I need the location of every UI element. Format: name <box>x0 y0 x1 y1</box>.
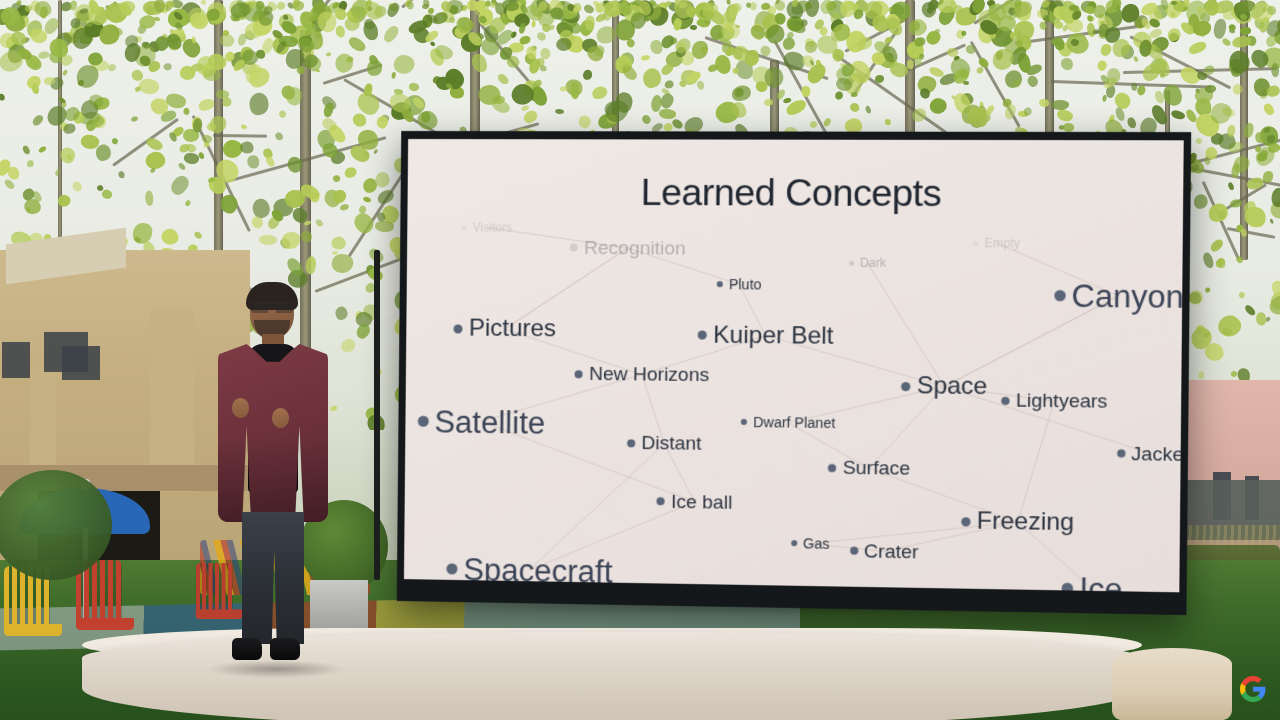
tree-leaf <box>934 28 940 33</box>
presenter-shoe-left <box>232 638 262 660</box>
tree-leaf <box>344 166 357 179</box>
tree-leaf <box>168 173 192 197</box>
tree-leaf <box>496 72 510 86</box>
concept-node-label: Gas <box>803 536 830 551</box>
concept-node-dot <box>454 324 463 333</box>
tree-leaf <box>247 154 260 168</box>
tree-leaf <box>131 115 139 122</box>
tree-leaf <box>690 24 698 30</box>
concept-node-label: Satellite <box>434 405 545 437</box>
concept-node-label: Freezing <box>977 509 1075 535</box>
tree-leaf <box>38 145 48 153</box>
tree-leaf <box>150 168 156 174</box>
tree-leaf <box>201 133 213 144</box>
tree-leaf <box>39 6 49 19</box>
presenter-hand-left <box>232 398 249 418</box>
concept-node-dot <box>627 439 635 447</box>
tree-leaf <box>1270 63 1279 77</box>
concept-node-dot <box>973 241 978 246</box>
tree-leaf <box>350 209 377 235</box>
tree-leaf <box>1160 73 1165 78</box>
concept-node-label: Ice ball <box>671 492 733 512</box>
concept-node-label: Canyon <box>1071 280 1183 313</box>
concept-node-dot <box>417 415 428 426</box>
concept-node-dot <box>961 517 970 526</box>
concept-node[interactable]: Visitors <box>462 221 512 233</box>
tree-leaf <box>331 173 341 183</box>
tree-leaf <box>119 171 125 179</box>
tree-leaf <box>490 96 513 117</box>
tree-leaf <box>143 148 167 172</box>
concept-node-label: Dwarf Planet <box>753 415 835 430</box>
concept-node-label: Dark <box>860 257 886 269</box>
tree-leaf <box>1255 132 1265 143</box>
tree-leaf <box>197 97 215 112</box>
tree-branch <box>213 134 267 138</box>
tree-leaf <box>247 92 270 117</box>
concept-node[interactable]: Surface <box>828 458 910 478</box>
presenter <box>196 286 346 676</box>
tree-leaf <box>1266 85 1280 97</box>
tree-leaf <box>255 49 265 60</box>
tree-leaf <box>0 93 6 101</box>
tree-leaf <box>314 218 324 229</box>
concept-node[interactable]: Pictures <box>454 317 557 342</box>
tree-leaf <box>1228 182 1235 191</box>
concept-node-label: Distant <box>641 434 701 454</box>
concept-node[interactable]: Satellite <box>417 405 545 438</box>
tree-leaf <box>163 62 173 72</box>
concept-node-dot <box>717 281 723 287</box>
concept-node-dot <box>828 464 836 472</box>
tree-leaf <box>1238 291 1246 299</box>
tree-leaf <box>1245 207 1266 228</box>
tree-leaf <box>429 41 436 48</box>
tree-leaf <box>884 36 893 44</box>
tree-leaf <box>222 97 232 106</box>
tree-leaf <box>1269 218 1274 224</box>
slide-surface: Learned Concepts VisitorsRecognitionEmpt… <box>404 139 1184 592</box>
concept-node[interactable]: New Horizons <box>575 364 709 384</box>
tree-leaf <box>241 124 248 130</box>
light-pole <box>374 250 380 580</box>
tree-leaf <box>927 95 950 118</box>
tree-leaf <box>27 160 34 167</box>
tree-leaf <box>183 108 190 115</box>
tree-leaf <box>1263 102 1276 117</box>
tree-leaf <box>849 102 860 113</box>
slide-title: Learned Concepts <box>407 171 1183 216</box>
tree-leaf <box>800 86 810 98</box>
concept-node[interactable]: Canyon <box>1054 280 1184 313</box>
tree-leaf <box>144 135 163 152</box>
tree-leaf <box>1225 48 1253 77</box>
concept-node[interactable]: Pluto <box>717 277 762 291</box>
tree-leaf <box>884 119 891 126</box>
tree-leaf <box>1276 152 1280 179</box>
concept-node-label: Space <box>917 374 988 399</box>
concept-node[interactable]: Empty <box>973 237 1020 249</box>
tree-leaf <box>332 190 346 204</box>
tree-leaf <box>329 234 347 251</box>
tree-leaf <box>391 71 397 79</box>
tree-leaf <box>1209 237 1225 253</box>
tree-leaf <box>696 80 704 90</box>
concept-node[interactable]: Lightyears <box>1001 391 1107 412</box>
concept-node-label: Kuiper Belt <box>713 323 834 348</box>
tree-leaf <box>781 37 795 51</box>
tree-leaf <box>1026 74 1040 88</box>
tree-leaf <box>1023 106 1033 116</box>
tree-leaf <box>576 114 592 130</box>
tree-leaf <box>1201 252 1214 270</box>
tree-leaf <box>201 0 208 6</box>
tree-leaf <box>1214 256 1227 269</box>
tree-leaf <box>851 92 858 97</box>
concept-node[interactable]: Crater <box>849 541 918 561</box>
google-g-logo <box>1240 676 1266 702</box>
tree-leaf <box>804 1 812 9</box>
tree-leaf <box>1205 85 1217 94</box>
tree-leaf <box>590 86 608 101</box>
concept-node[interactable]: Distant <box>627 434 702 454</box>
tree-leaf <box>519 35 532 45</box>
tree-leaf <box>185 142 197 154</box>
concept-node[interactable]: Kuiper Belt <box>698 323 834 348</box>
tree-leaf <box>864 105 871 114</box>
tree-leaf <box>817 35 838 54</box>
tree-leaf <box>569 82 579 100</box>
presenter-legs <box>242 512 304 644</box>
screenshot-root: Learned Concepts VisitorsRecognitionEmpt… <box>0 0 1280 720</box>
tree-leaf <box>1215 311 1245 341</box>
concept-node-label: Crater <box>864 542 919 562</box>
tree-leaf <box>281 231 300 249</box>
tree-leaf <box>731 85 752 102</box>
concept-node-label: Visitors <box>473 221 512 233</box>
concept-node-dot <box>850 547 858 555</box>
concept-node-dot <box>1117 450 1125 458</box>
concept-node-dot <box>570 244 578 252</box>
tree-leaf <box>385 0 402 18</box>
tree-leaf <box>1166 27 1182 42</box>
tree-leaf <box>1256 312 1266 325</box>
concept-node-dot <box>791 540 797 546</box>
tree-leaf <box>372 148 378 154</box>
concept-node-dot <box>741 419 747 425</box>
tree-leaf <box>43 77 55 85</box>
tree-branch <box>1227 227 1275 239</box>
tree-leaf <box>177 162 186 171</box>
concept-node[interactable]: Dwarf Planet <box>741 415 836 430</box>
tree-leaf <box>707 64 718 73</box>
tree-leaf <box>1244 304 1257 318</box>
tree-leaf <box>745 50 760 66</box>
tree-leaf <box>405 1 414 11</box>
concept-node[interactable]: Gas <box>791 536 830 551</box>
concept-node-dot <box>575 370 583 378</box>
tree-leaf <box>1050 99 1069 110</box>
presenter-shoe-right <box>270 638 300 660</box>
tree-leaf <box>274 131 284 142</box>
tree-leaf <box>665 80 674 88</box>
concept-node[interactable]: Freezing <box>961 509 1074 535</box>
tree-leaf <box>1043 15 1049 21</box>
tree-leaf <box>325 52 330 57</box>
concept-node[interactable]: Space <box>901 374 987 399</box>
concept-node[interactable]: Recognition <box>570 238 686 258</box>
concept-node-dot <box>901 382 910 391</box>
presenter-hand-right <box>272 408 289 428</box>
concept-node[interactable]: Jacket <box>1117 444 1184 464</box>
tree-leaf <box>1240 27 1252 35</box>
tree-leaf <box>340 203 350 211</box>
tree-leaf <box>692 41 708 60</box>
tree-leaf <box>991 47 1014 71</box>
tree-leaf <box>448 16 455 24</box>
tree-leaf <box>1054 37 1065 51</box>
concept-node-label: Empty <box>985 237 1021 249</box>
tree-leaf <box>1170 108 1186 121</box>
tree-leaf <box>283 14 288 20</box>
tree-leaf <box>145 191 153 206</box>
tree-leaf <box>1212 17 1228 39</box>
tree-leaf <box>1226 124 1236 138</box>
tree-leaf <box>278 110 288 120</box>
tree-leaf <box>834 90 844 100</box>
tree-leaf <box>1100 43 1113 57</box>
concept-node[interactable]: Ice <box>1061 572 1122 592</box>
tree-leaf <box>1096 59 1109 72</box>
tree-leaf <box>1101 94 1107 102</box>
tree-leaf <box>965 44 975 54</box>
presentation-screen[interactable]: Learned Concepts VisitorsRecognitionEmpt… <box>397 131 1191 615</box>
presenter-glasses <box>251 302 293 313</box>
tree-leaf <box>71 181 82 192</box>
tree-leaf <box>259 234 278 246</box>
tree-leaf <box>314 68 320 73</box>
tree-leaf <box>804 41 817 54</box>
tree-leaf <box>1061 58 1074 71</box>
tree-leaf <box>1171 1 1177 5</box>
side-podium <box>1112 648 1232 720</box>
presenter-jacket-shading <box>218 436 328 522</box>
tree-leaf <box>240 140 255 154</box>
tree-leaf <box>583 70 592 80</box>
tree-leaf <box>1193 20 1212 36</box>
tree-leaf <box>1196 137 1203 144</box>
concept-node-dot <box>1054 290 1066 301</box>
tree-leaf <box>362 196 371 204</box>
tree-leaf <box>1187 41 1207 56</box>
tree-leaf <box>1231 35 1251 48</box>
concept-node-dot <box>446 563 457 574</box>
concept-node-label: Pictures <box>469 317 556 342</box>
concept-node-dot <box>849 260 854 265</box>
tree-leaf <box>38 52 50 60</box>
tree-leaf <box>107 64 116 73</box>
concept-node-label: Jacket <box>1131 444 1184 464</box>
tree-leaf <box>64 123 77 134</box>
tree-leaf <box>1228 24 1235 31</box>
tree-leaf <box>536 32 547 42</box>
tree-leaf <box>88 94 103 107</box>
tree-leaf <box>1133 55 1139 62</box>
concept-node-label: New Horizons <box>589 364 709 384</box>
tree-leaf <box>159 226 181 248</box>
tree-leaf <box>335 25 345 38</box>
tree-leaf <box>408 82 420 92</box>
tree-leaf <box>22 145 31 155</box>
concept-node-dot <box>462 225 467 230</box>
tree-leaf <box>352 113 367 128</box>
concept-node-dot <box>657 497 665 505</box>
concept-node-dot <box>1001 396 1009 404</box>
tree-leaf <box>111 137 119 145</box>
tree-leaf <box>1126 117 1137 130</box>
tree-leaf <box>540 66 547 72</box>
concept-node-label: Ice <box>1079 572 1123 592</box>
tree-leaf <box>292 1 304 12</box>
tree-leaf <box>101 188 115 201</box>
concept-node-dot <box>698 331 707 340</box>
tree-leaf <box>1222 37 1232 47</box>
tree-leaf <box>30 113 44 127</box>
tree-leaf <box>550 7 564 20</box>
tree-leaf <box>139 15 156 29</box>
concept-node[interactable]: Ice ball <box>657 492 733 512</box>
tree-leaf <box>193 230 203 240</box>
tree-leaf <box>650 39 663 54</box>
tree-leaf <box>184 200 191 208</box>
tree-leaf <box>1267 6 1276 16</box>
tree-leaf <box>554 109 563 116</box>
tree-leaf <box>61 69 68 76</box>
tree-leaf <box>641 54 650 60</box>
concept-node-label: Lightyears <box>1016 391 1108 411</box>
tree-leaf <box>381 23 401 44</box>
tree-leaf <box>1204 287 1210 292</box>
concept-node[interactable]: Dark <box>849 257 887 269</box>
concept-node-label: Surface <box>843 459 911 479</box>
tree-leaf <box>183 152 200 166</box>
tree-leaf <box>276 1 287 12</box>
tree-leaf <box>347 35 368 55</box>
tree-leaf <box>640 114 652 126</box>
graph-edge <box>1018 401 1055 523</box>
concept-node-label: Recognition <box>584 238 686 258</box>
tree-leaf <box>1197 370 1206 380</box>
tree-leaf <box>726 0 730 5</box>
concept-node-label: Pluto <box>729 277 762 291</box>
